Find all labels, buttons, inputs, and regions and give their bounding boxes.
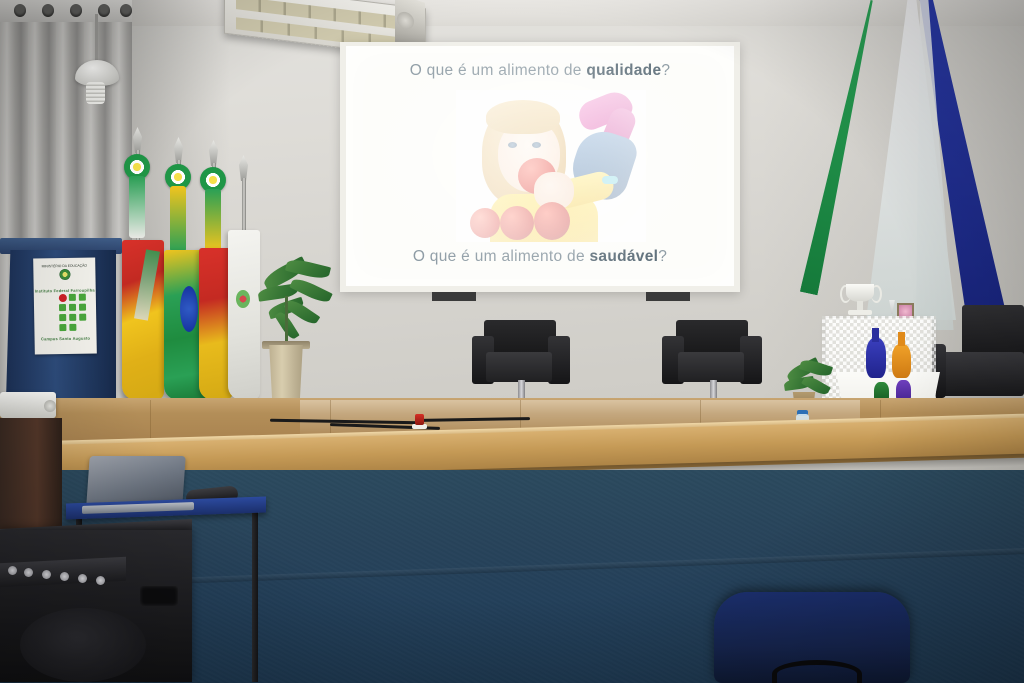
podium-sign: MINISTÉRIO DA EDUCAÇÃO Instituto Federal… <box>33 257 97 354</box>
screen-bracket <box>646 292 690 301</box>
sign-ministry-label: MINISTÉRIO DA EDUCAÇÃO <box>33 263 95 268</box>
curtain-grommet-icon <box>42 4 54 17</box>
speaker-driver-icon <box>20 608 146 682</box>
curtain-grommet-icon <box>70 4 82 17</box>
trophy-base <box>848 310 872 315</box>
flag-ribbon <box>205 189 221 251</box>
wooden-cabinet <box>0 418 62 536</box>
coat-of-arms-icon <box>59 269 70 280</box>
slide-top-suffix: ? <box>661 62 670 79</box>
cfl-bulb-icon <box>86 82 105 104</box>
decor-bottle-orange <box>892 344 911 378</box>
speaker-handle[interactable] <box>140 586 178 606</box>
trophy-icon <box>846 284 874 302</box>
flag-ribbon <box>170 186 186 252</box>
plant-stem <box>285 296 288 346</box>
decor-bottle-blue <box>866 338 886 378</box>
screen-bracket <box>432 292 476 301</box>
curtain-grommet-icon <box>98 4 110 17</box>
projector-lens-icon <box>44 400 56 412</box>
flag-institutional-emblem-icon <box>236 290 250 308</box>
slide-bottom-keyword: saudável <box>589 248 658 265</box>
table-leg <box>252 512 258 682</box>
sign-campus-label: Campus Santo Augusto <box>35 335 97 341</box>
plant-pot <box>266 345 306 405</box>
slide-headline-top: O que é um alimento de qualidade? <box>346 62 734 80</box>
flag-institutional <box>228 230 260 400</box>
curtain-grommet-icon <box>14 4 26 17</box>
decor-bottle-neck <box>898 332 905 346</box>
flag-ribbon <box>129 176 145 238</box>
cable-connector-icon <box>415 414 424 425</box>
slide-top-prefix: O que é um alimento de <box>410 62 587 79</box>
curtain-grommet-icon <box>120 4 132 17</box>
photo-light-wash <box>456 90 646 242</box>
slide-bottom-suffix: ? <box>658 248 667 265</box>
lamp-cord <box>95 14 98 66</box>
projected-slide: O que é um alimento de qualidade? O que … <box>346 46 734 286</box>
auditorium-photo: O que é um alimento de qualidade? O que … <box>0 0 1024 683</box>
auditorium-seat-cutout <box>772 660 862 683</box>
flag-brazil-globe-icon <box>180 286 198 332</box>
sign-institution-label: Instituto Federal Farroupilha <box>34 287 96 293</box>
decor-bottle-neck <box>872 328 879 342</box>
slide-bottom-prefix: O que é um alimento de <box>413 248 590 265</box>
logo-red-dot-icon <box>59 294 67 302</box>
slide-headline-bottom: O que é um alimento de saudável? <box>346 248 734 266</box>
apple-logo-icon <box>126 476 144 496</box>
slide-photo <box>456 90 646 242</box>
slide-top-keyword: qualidade <box>586 62 661 79</box>
